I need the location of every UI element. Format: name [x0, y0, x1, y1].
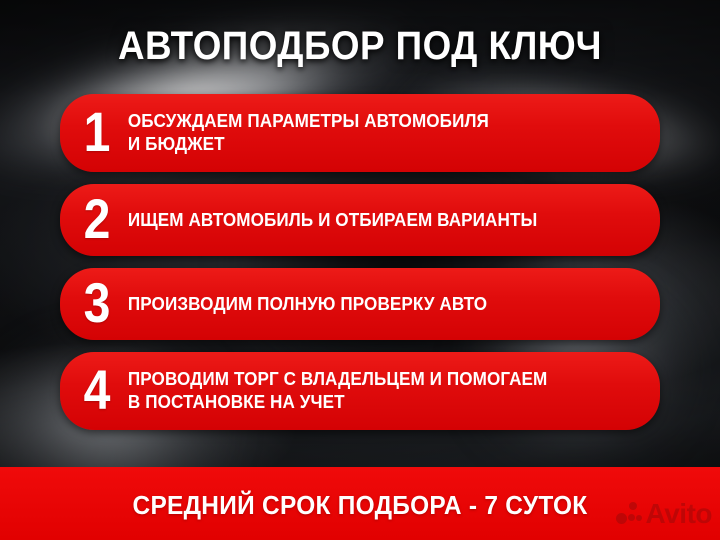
- steps-list: 1 ОБСУЖДАЕМ ПАРАМЕТРЫ АВТОМОБИЛЯ И БЮДЖЕ…: [60, 94, 660, 430]
- step-item-2: 2 ИЩЕМ АВТОМОБИЛЬ И ОТБИРАЕМ ВАРИАНТЫ: [60, 184, 660, 256]
- step-text-4-line2: В ПОСТАНОВКЕ НА УЧЕТ: [128, 391, 618, 414]
- promo-banner: АВТОПОДБОР ПОД КЛЮЧ 1 ОБСУЖДАЕМ ПАРАМЕТР…: [0, 0, 720, 540]
- footer-banner-text: СРЕДНИЙ СРОК ПОДБОРА - 7 СУТОК: [133, 490, 588, 520]
- step-text-2-line1: ИЩЕМ АВТОМОБИЛЬ И ОТБИРАЕМ ВАРИАНТЫ: [128, 210, 537, 230]
- page-title: АВТОПОДБОР ПОД КЛЮЧ: [29, 24, 691, 68]
- step-text-4-line1: ПРОВОДИМ ТОРГ С ВЛАДЕЛЬЦЕМ И ПОМОГАЕМ: [128, 369, 547, 389]
- step-item-1: 1 ОБСУЖДАЕМ ПАРАМЕТРЫ АВТОМОБИЛЯ И БЮДЖЕ…: [60, 94, 660, 172]
- step-text-1: ОБСУЖДАЕМ ПАРАМЕТРЫ АВТОМОБИЛЯ И БЮДЖЕТ: [126, 110, 633, 156]
- step-text-3: ПРОИЗВОДИМ ПОЛНУЮ ПРОВЕРКУ АВТО: [126, 293, 633, 316]
- step-text-1-line2: И БЮДЖЕТ: [128, 133, 618, 156]
- footer-banner: СРЕДНИЙ СРОК ПОДБОРА - 7 СУТОК: [0, 467, 720, 540]
- step-text-2: ИЩЕМ АВТОМОБИЛЬ И ОТБИРАЕМ ВАРИАНТЫ: [126, 209, 633, 232]
- step-item-4: 4 ПРОВОДИМ ТОРГ С ВЛАДЕЛЬЦЕМ И ПОМОГАЕМ …: [60, 352, 660, 430]
- step-number-3: 3: [72, 275, 122, 331]
- step-text-4: ПРОВОДИМ ТОРГ С ВЛАДЕЛЬЦЕМ И ПОМОГАЕМ В …: [126, 368, 633, 414]
- step-text-1-line1: ОБСУЖДАЕМ ПАРАМЕТРЫ АВТОМОБИЛЯ: [128, 111, 489, 131]
- step-text-3-line1: ПРОИЗВОДИМ ПОЛНУЮ ПРОВЕРКУ АВТО: [128, 294, 487, 314]
- step-number-2: 2: [72, 191, 122, 247]
- step-number-4: 4: [72, 362, 122, 418]
- step-item-3: 3 ПРОИЗВОДИМ ПОЛНУЮ ПРОВЕРКУ АВТО: [60, 268, 660, 340]
- step-number-1: 1: [72, 104, 122, 160]
